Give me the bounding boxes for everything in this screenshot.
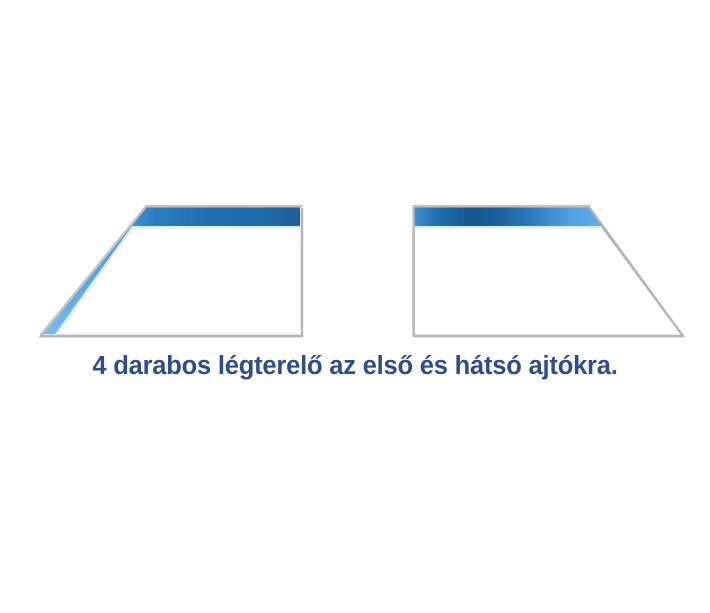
rear-door-wind-deflector xyxy=(413,206,684,336)
front-deflector-top-tint-band xyxy=(132,207,300,226)
wind-deflector-pair-diagram xyxy=(0,0,710,350)
product-image-canvas: 4 darabos légterelő az első és hátsó ajt… xyxy=(0,0,710,613)
product-caption: 4 darabos légterelő az első és hátsó ajt… xyxy=(0,352,710,381)
front-door-wind-deflector xyxy=(40,206,303,336)
rear-deflector-top-tint-band xyxy=(414,207,602,226)
